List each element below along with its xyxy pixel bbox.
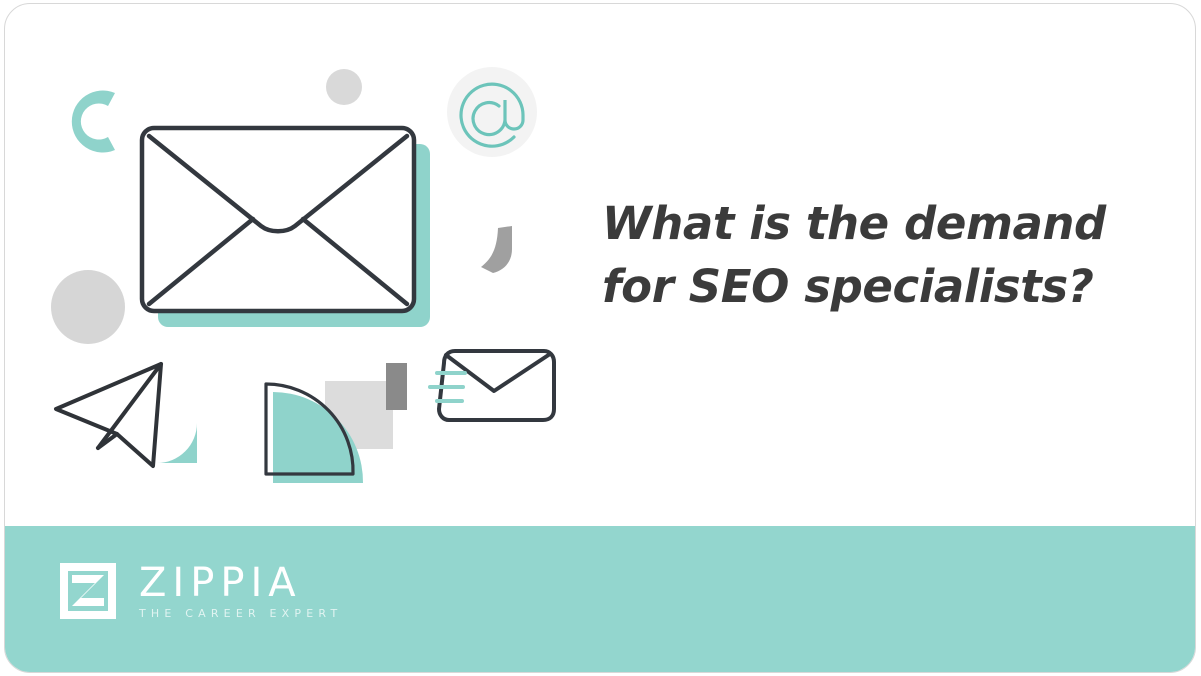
- headline-line-1: What is the demand: [602, 192, 1147, 255]
- promo-card: What is the demand for SEO specialists? …: [4, 3, 1196, 673]
- teal-quarter-ring: [157, 423, 197, 463]
- zippia-wordmark: ZIPPIA THE CAREER EXPERT: [139, 561, 342, 621]
- headline-line-2: for SEO specialists?: [602, 255, 1147, 318]
- logo-tagline: THE CAREER EXPERT: [139, 607, 342, 621]
- main-envelope-body: [142, 128, 414, 311]
- zippia-z-mark-icon: [57, 560, 119, 622]
- dark-gray-rectangle: [386, 363, 407, 410]
- footer-band: ZIPPIA THE CAREER EXPERT: [5, 526, 1195, 672]
- teal-c-arc: [72, 91, 115, 153]
- page-title: What is the demand for SEO specialists?: [602, 192, 1147, 318]
- speed-lines-icon: [430, 373, 465, 401]
- logo-word: ZIPPIA: [139, 563, 342, 603]
- large-gray-circle: [51, 270, 125, 344]
- paper-plane-icon: [56, 364, 161, 466]
- small-gray-circle: [326, 69, 362, 105]
- email-illustration: [5, 4, 585, 534]
- zippia-logo[interactable]: ZIPPIA THE CAREER EXPERT: [57, 560, 342, 622]
- gray-comma-shape: [481, 226, 512, 273]
